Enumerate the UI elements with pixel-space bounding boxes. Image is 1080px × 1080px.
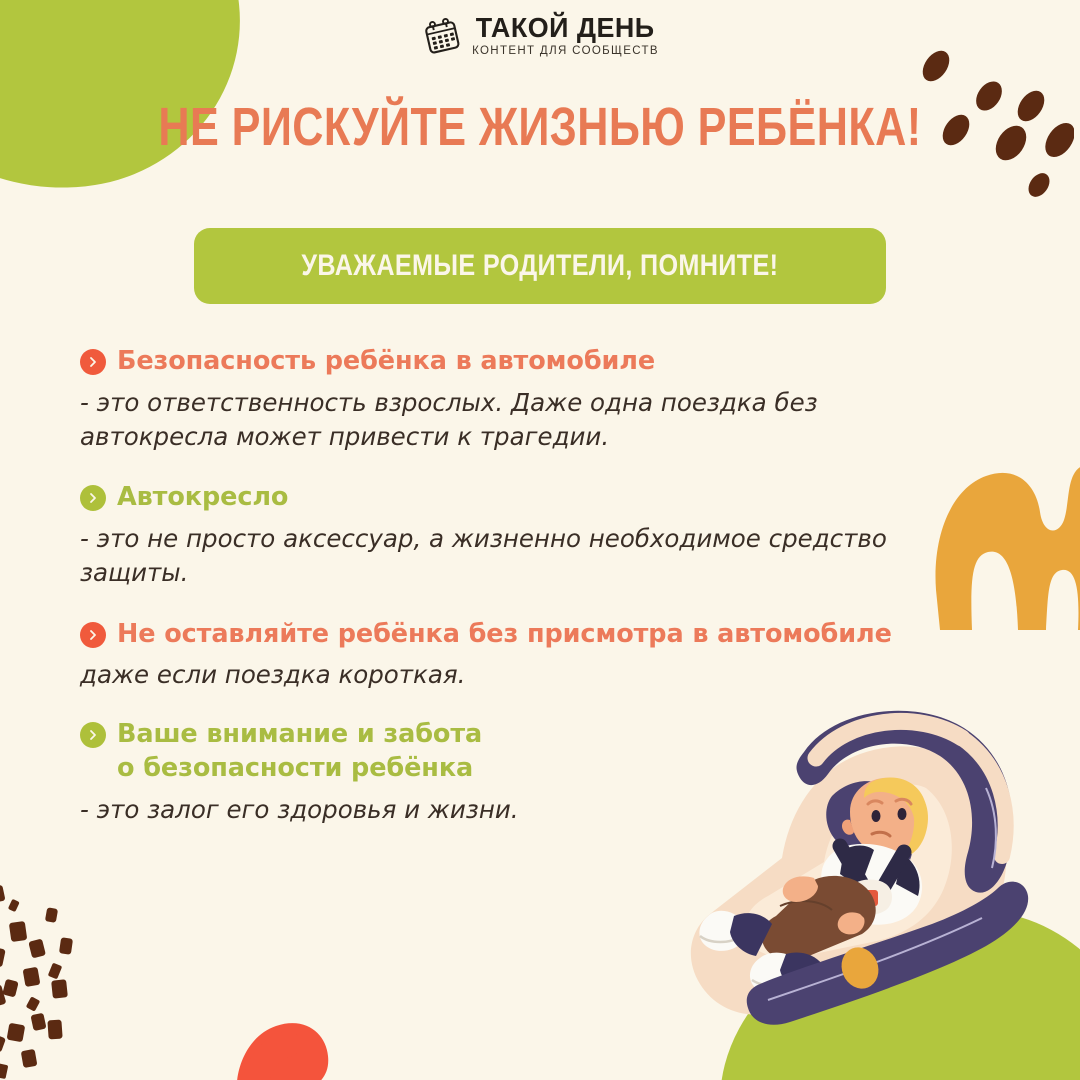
list-item-heading: Автокресло [117,480,288,515]
list-item-body: - это не просто аксессуар, а жизненно не… [0,522,910,591]
advice-list: Безопасность ребёнка в автомобиле - это … [0,344,1010,827]
chevron-right-circle-icon [80,485,106,511]
attention-banner: УВАЖАЕМЫЕ РОДИТЕЛИ, ПОМНИТЕ! [194,228,886,304]
list-item: Не оставляйте ребёнка без присмотра в ав… [0,617,1010,693]
attention-banner-text: УВАЖАЕМЫЕ РОДИТЕЛИ, ПОМНИТЕ! [302,249,779,283]
brand-logo: ТАКОЙ ДЕНЬ КОНТЕНТ ДЛЯ СООБЩЕСТВ [0,14,1080,58]
list-item-body: - это залог его здоровья и жизни. [0,793,910,827]
list-item-heading: Безопасность ребёнка в автомобиле [117,344,655,379]
list-item-heading: Ваше внимание и забота о безопасности ре… [117,717,482,786]
chevron-right-circle-icon [80,722,106,748]
red-squiggle [228,1004,388,1080]
page-title: НЕ РИСКУЙТЕ ЖИЗНЬЮ РЕБЁНКА! [108,96,972,158]
logo-subtitle: КОНТЕНТ ДЛЯ СООБЩЕСТВ [472,46,659,58]
list-item-body: даже если поездка короткая. [0,658,910,692]
logo-title: ТАКОЙ ДЕНЬ [476,14,655,42]
poster-canvas: ТАКОЙ ДЕНЬ КОНТЕНТ ДЛЯ СООБЩЕСТВ НЕ РИСК… [0,0,1080,1080]
list-item: Автокресло - это не просто аксессуар, а … [0,480,1010,590]
list-item-body: - это ответственность взрослых. Даже одн… [0,386,910,455]
list-item: Ваше внимание и забота о безопасности ре… [0,717,1010,828]
list-item-heading: Не оставляйте ребёнка без присмотра в ав… [117,617,892,652]
green-blob [720,910,1080,1080]
chevron-right-circle-icon [80,622,106,648]
brown-confetti [0,868,184,1080]
list-item: Безопасность ребёнка в автомобиле - это … [0,344,1010,454]
calendar-icon [421,15,463,57]
chevron-right-circle-icon [80,349,106,375]
